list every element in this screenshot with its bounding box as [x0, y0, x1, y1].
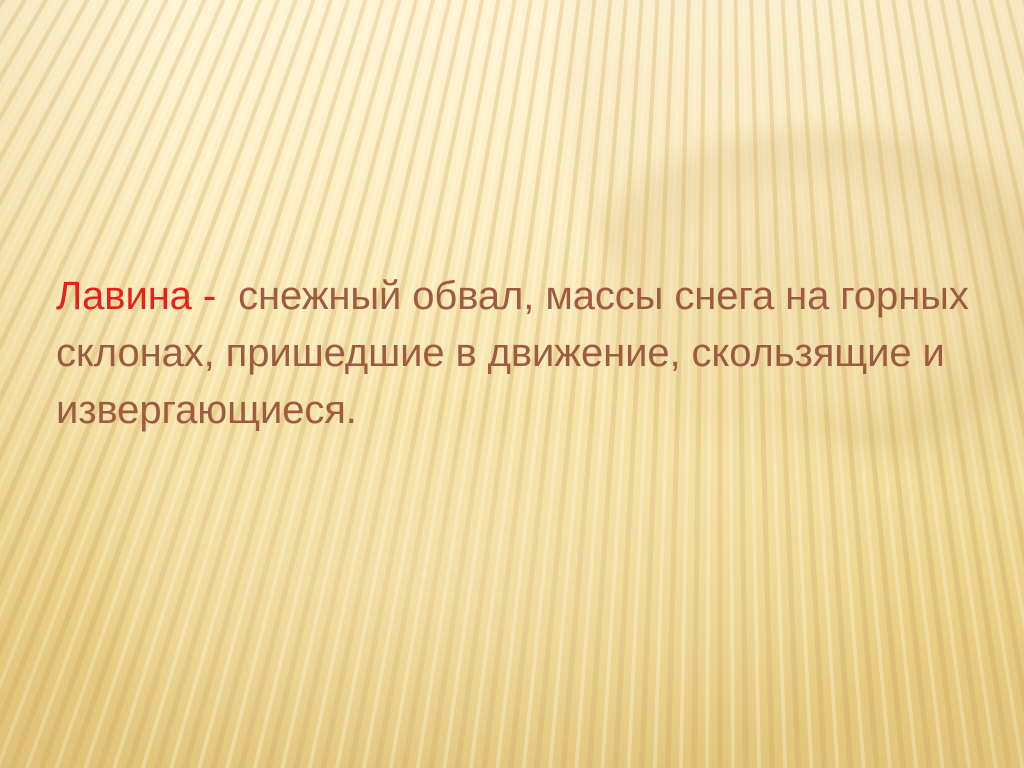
term-gap	[216, 274, 238, 318]
slide-canvas: Лавина - снежный обвал, массы снега на г…	[0, 0, 1024, 768]
term-dash: -	[203, 274, 216, 318]
term-lavina: Лавина	[56, 274, 192, 318]
term-spacer	[192, 274, 203, 318]
background-sheen	[120, 430, 880, 768]
slide-body-text: Лавина - снежный обвал, массы снега на г…	[56, 268, 976, 439]
